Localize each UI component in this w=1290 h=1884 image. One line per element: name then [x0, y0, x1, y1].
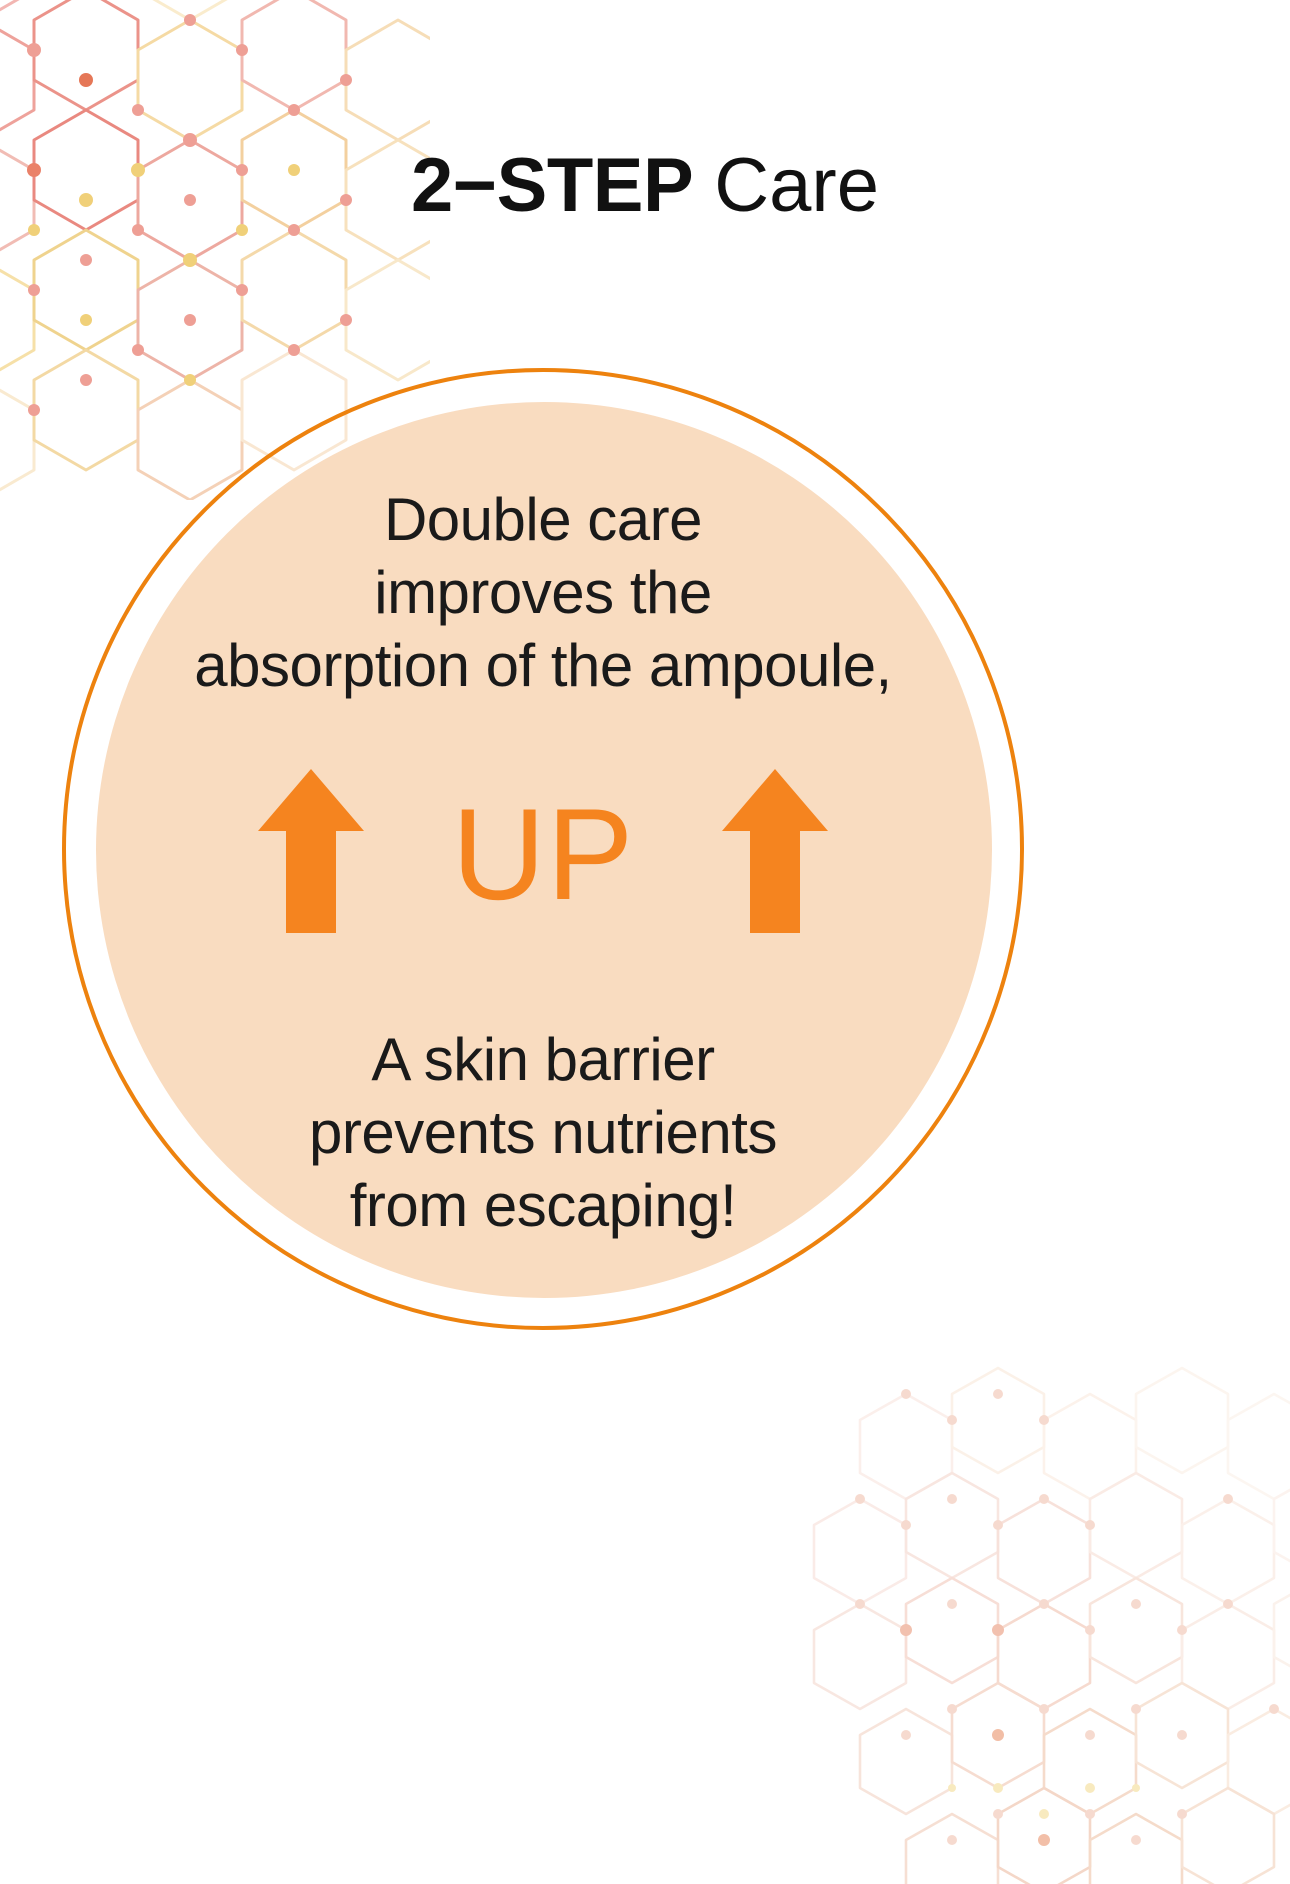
page-title-strong: 2−STEP [411, 143, 693, 228]
upper-message: Double care improves the absorption of t… [194, 483, 891, 703]
upper-message-line-3: absorption of the ampoule, [194, 629, 891, 702]
circle-content: Double care improves the absorption of t… [62, 368, 1024, 1330]
up-label: UP [452, 789, 635, 919]
lower-message-line-2: prevents nutrients [309, 1096, 777, 1169]
page-title: 2−STEP Care [0, 148, 1290, 224]
page-title-light: Care [693, 143, 879, 228]
arrow-up-left-icon [256, 765, 366, 935]
lower-message-line-3: from escaping! [309, 1169, 777, 1242]
upper-message-line-2: improves the [194, 556, 891, 629]
up-emphasis-row: UP [256, 765, 831, 935]
upper-message-line-1: Double care [194, 483, 891, 556]
poster-canvas: 2−STEP Care Double care improves the abs… [0, 0, 1290, 1884]
arrow-up-right-icon [720, 765, 830, 935]
hexagon-pattern-bottom-right [800, 1364, 1290, 1884]
lower-message-line-1: A skin barrier [309, 1023, 777, 1096]
lower-message: A skin barrier prevents nutrients from e… [309, 1023, 777, 1243]
